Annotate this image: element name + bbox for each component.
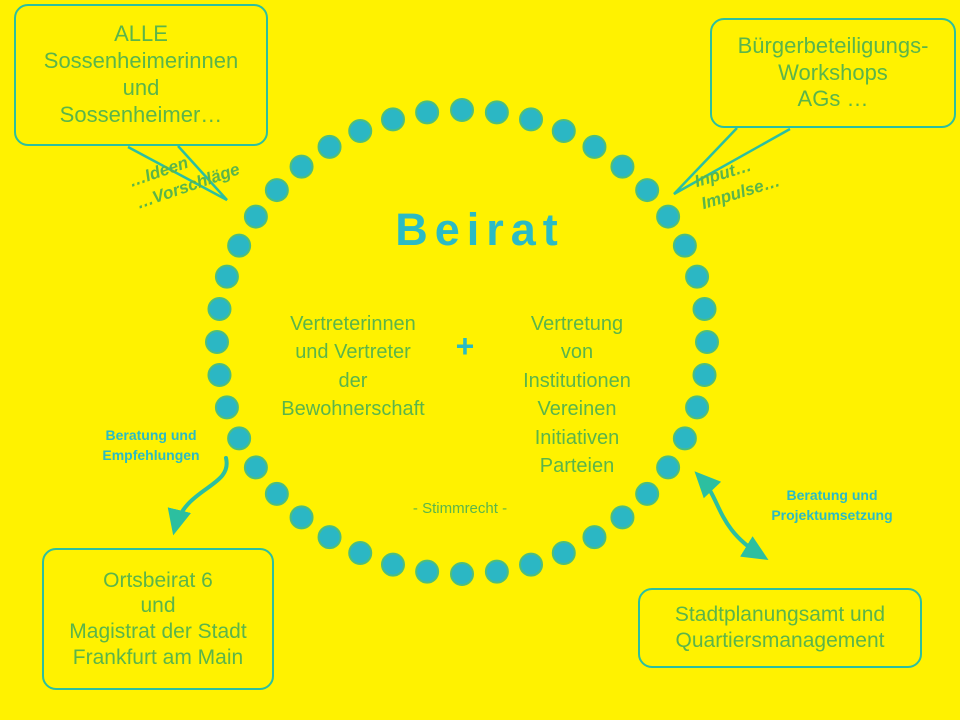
ring-dot — [486, 101, 508, 123]
ring-dot — [216, 266, 238, 288]
center-column-right: Vertretung von Institutionen Vereinen In… — [492, 310, 662, 480]
ring-dot — [319, 526, 341, 548]
ring-dot — [451, 99, 473, 121]
ring-dot — [206, 331, 228, 353]
ring-dot — [520, 108, 542, 130]
ring-dot — [382, 554, 404, 576]
annotation-beratung-empfehlungen: Beratung und Empfehlungen — [66, 425, 236, 466]
box-stadtplanungsamt-text: Stadtplanungsamt und Quartiersmanagement — [648, 602, 912, 653]
ring-dot — [451, 563, 473, 585]
center-column-left: Vertreterinnen und Vertreter der Bewohne… — [268, 310, 438, 424]
diagram-canvas: ALLE Sossenheimerinnen und Sossenheimer…… — [0, 0, 960, 720]
ring-dot — [208, 364, 230, 386]
ring-dot — [694, 298, 716, 320]
ring-dot — [553, 542, 575, 564]
ring-dot — [611, 506, 633, 528]
ring-dot — [553, 120, 575, 142]
box-ortsbeirat: Ortsbeirat 6 und Magistrat der Stadt Fra… — [42, 548, 274, 690]
ring-dot — [245, 456, 267, 478]
speech-bubble-workshops-text: Bürgerbeteiligungs- Workshops AGs … — [720, 33, 946, 113]
ring-dot — [636, 179, 658, 201]
ring-dot — [686, 396, 708, 418]
ring-dot — [319, 136, 341, 158]
box-ortsbeirat-text: Ortsbeirat 6 und Magistrat der Stadt Fra… — [52, 568, 264, 670]
ring-dot — [266, 483, 288, 505]
ring-dot — [520, 554, 542, 576]
box-stadtplanungsamt: Stadtplanungsamt und Quartiersmanagement — [638, 588, 922, 668]
ring-dot — [583, 526, 605, 548]
ring-dot — [216, 396, 238, 418]
ring-dot — [674, 427, 696, 449]
plus-icon: + — [445, 330, 485, 362]
center-footnote: - Stimmrecht - — [330, 500, 590, 517]
ring-dot — [583, 136, 605, 158]
ring-dot — [694, 364, 716, 386]
ring-dot — [266, 179, 288, 201]
ring-dot — [349, 542, 371, 564]
ring-dot — [291, 156, 313, 178]
annotation-beratung-projektumsetzung: Beratung und Projektumsetzung — [742, 485, 922, 526]
arrow-beratung-empfehlungen — [175, 458, 227, 528]
speech-bubble-workshops: Bürgerbeteiligungs- Workshops AGs … — [710, 18, 956, 128]
ring-dot — [611, 156, 633, 178]
ring-dot — [382, 108, 404, 130]
ring-dot — [686, 266, 708, 288]
ring-dot — [291, 506, 313, 528]
ring-dot — [636, 483, 658, 505]
ring-dot — [486, 561, 508, 583]
ring-dot — [696, 331, 718, 353]
speech-bubble-residents-text: ALLE Sossenheimerinnen und Sossenheimer… — [24, 21, 258, 128]
ring-dot — [349, 120, 371, 142]
ring-dot — [416, 561, 438, 583]
speech-bubble-residents: ALLE Sossenheimerinnen und Sossenheimer… — [14, 4, 268, 146]
ring-dot — [208, 298, 230, 320]
ring-dot — [416, 101, 438, 123]
